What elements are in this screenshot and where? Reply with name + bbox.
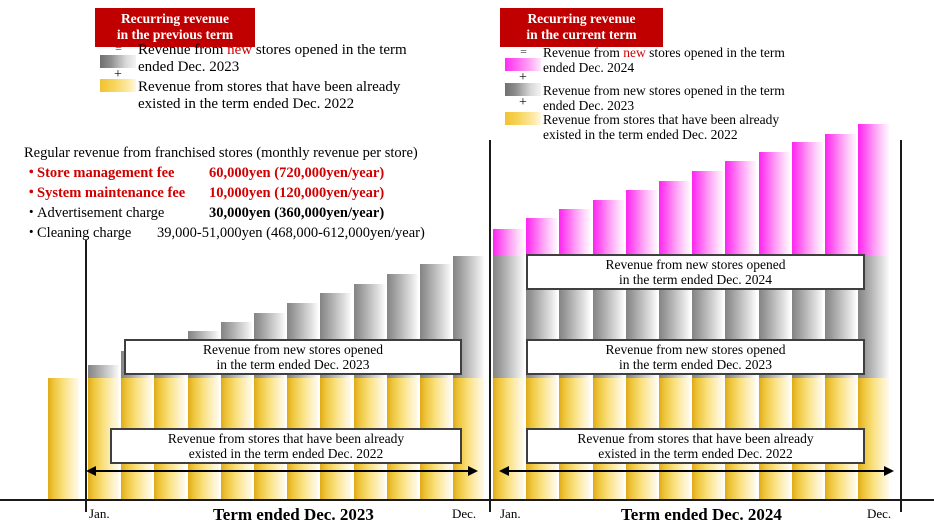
callout-new-stores-2023-right: Revenue from new stores opened in the te…: [526, 339, 865, 375]
fee-value: 39,000-51,000yen (468,000-612,000yen/yea…: [157, 223, 464, 243]
fee-value: 30,000yen (360,000yen/year): [209, 203, 464, 223]
fee-value: 60,000yen (720,000yen/year): [209, 163, 464, 183]
label-dec-left: Dec.: [452, 506, 476, 522]
callout-existing-stores-2022-left: Revenue from stores that have been alrea…: [110, 428, 462, 464]
term-span-arrow-right: [504, 470, 886, 472]
bar-column: [320, 293, 351, 499]
callout-existing-stores-2022-right: Revenue from stores that have been alrea…: [526, 428, 865, 464]
bar-segment-pink: [825, 134, 856, 256]
legend-row-existing-2022: Revenue from stores that have been alrea…: [503, 112, 785, 142]
term-span-arrow-left-head: [86, 466, 96, 476]
bar-segment-pink: [792, 142, 823, 256]
plus-operator: +: [519, 96, 527, 109]
legend-swatch-col: +: [503, 83, 543, 109]
bar-segment-pink: [659, 181, 690, 256]
legend-label-new-2024: Revenue from new stores opened in the te…: [543, 45, 785, 75]
bar-segment-pink: [593, 200, 624, 256]
legend-highlight-new: new: [623, 45, 646, 60]
equals-operator: =: [520, 46, 526, 56]
y-axis-right: [900, 140, 902, 512]
term-span-arrow-left: [90, 470, 470, 472]
legend-row-new-2023: = + Revenue from new stores opened in th…: [98, 42, 407, 81]
fee-table-rows: ・Store management fee60,000yen (720,000y…: [24, 163, 464, 243]
bar-segment-pink: [759, 152, 790, 256]
callout-new-stores-2023-left: Revenue from new stores opened in the te…: [124, 339, 462, 375]
fee-row: ・System maintenance fee10,000yen (120,00…: [24, 183, 464, 203]
legend-highlight-new: new: [227, 42, 252, 58]
yellow-swatch-icon: [505, 112, 541, 125]
panel-divider: [489, 140, 491, 512]
x-axis-right: [489, 499, 934, 501]
fee-name: System maintenance fee: [37, 183, 209, 203]
bullet-icon: ・: [24, 203, 37, 223]
legend-label-existing-2022: Revenue from stores that have been alrea…: [543, 112, 779, 142]
legend-swatch-col: [98, 79, 138, 92]
bar-segment-pink: [559, 209, 590, 256]
legend-current-term: = + Revenue from new stores opened in th…: [503, 45, 785, 142]
label-dec-right: Dec.: [867, 506, 891, 522]
bar-segment-pink: [858, 124, 889, 256]
yellow-swatch-icon: [100, 79, 136, 92]
bar-segment-gray: [493, 256, 524, 378]
term-span-arrow-right-head: [468, 466, 478, 476]
legend-swatch-col: [503, 112, 543, 125]
fee-row: ・Advertisement charge30,000yen (360,000y…: [24, 203, 464, 223]
bullet-icon: ・: [24, 163, 37, 183]
legend-swatch-col: = +: [503, 45, 543, 84]
bar-segment-pink: [526, 218, 557, 256]
callout-new-stores-2024-right: Revenue from new stores opened in the te…: [526, 254, 865, 290]
bar-segment-pink: [725, 161, 756, 255]
fee-name: Advertisement charge: [37, 203, 209, 223]
fee-name: Store management fee: [37, 163, 209, 183]
bullet-icon: ・: [24, 183, 37, 203]
bar-column: [387, 274, 418, 499]
legend-swatch-col: = +: [98, 42, 138, 81]
legend-text-pre: Revenue from: [138, 42, 227, 58]
fee-value: 10,000yen (120,000yen/year): [209, 183, 464, 203]
bar-column: [48, 378, 79, 499]
label-jan-left: Jan.: [89, 506, 110, 522]
legend-label-new-2023: Revenue from new stores opened in the te…: [543, 83, 785, 113]
bar-segment-yellow: [493, 378, 524, 499]
bar-segment-pink: [626, 190, 657, 255]
banner-current-term: Recurring revenue in the current term: [500, 8, 663, 47]
legend-row-existing-2022: Revenue from stores that have been alrea…: [98, 79, 407, 113]
bullet-icon: ・: [24, 223, 37, 243]
legend-previous-term: = + Revenue from new stores opened in th…: [98, 42, 407, 113]
fee-row: ・Cleaning charge39,000-51,000yen (468,00…: [24, 223, 464, 243]
x-axis-left: [0, 499, 489, 501]
bar-column: [493, 229, 524, 499]
bar-segment-pink: [692, 171, 723, 256]
bar-segment-pink: [493, 229, 524, 256]
label-term-2023: Term ended Dec. 2023: [213, 505, 374, 525]
fee-row: ・Store management fee60,000yen (720,000y…: [24, 163, 464, 183]
label-jan-right: Jan.: [500, 506, 521, 522]
legend-row-new-2024: = + Revenue from new stores opened in th…: [503, 45, 785, 84]
legend-text-pre: Revenue from: [543, 45, 623, 60]
bar-column: [354, 284, 385, 499]
bar-segment-yellow: [48, 378, 79, 499]
equals-operator: =: [115, 43, 121, 53]
fee-table: Regular revenue from franchised stores (…: [24, 144, 464, 243]
label-term-2024: Term ended Dec. 2024: [621, 505, 782, 525]
legend-label-new-2023: Revenue from new stores opened in the te…: [138, 42, 407, 76]
legend-row-new-2023: + Revenue from new stores opened in the …: [503, 83, 785, 113]
term-span-arrow-right-lhead: [499, 466, 509, 476]
term-span-arrow-right-rhead: [884, 466, 894, 476]
fee-name: Cleaning charge: [37, 223, 157, 243]
fee-table-title: Regular revenue from franchised stores (…: [24, 144, 464, 163]
bar-segment-gray: [88, 365, 119, 378]
legend-label-existing-2022: Revenue from stores that have been alrea…: [138, 79, 400, 113]
